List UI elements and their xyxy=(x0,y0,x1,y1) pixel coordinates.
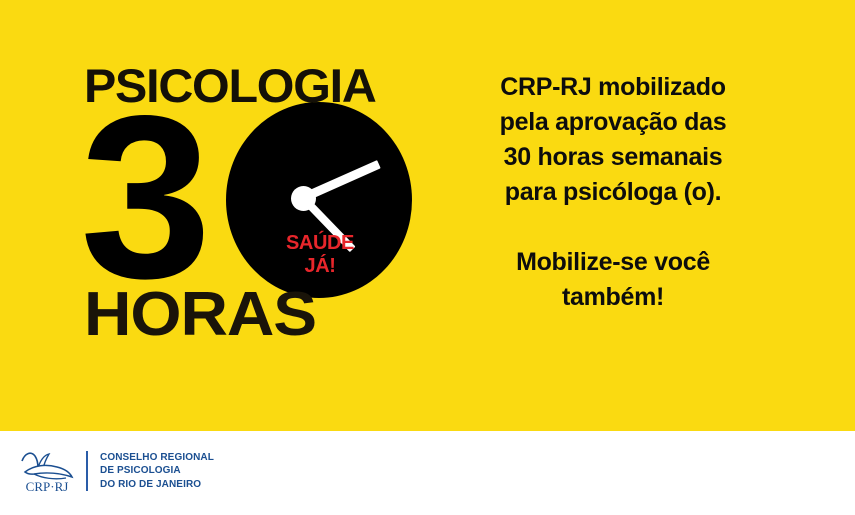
brand-name-line-1: CONSELHO REGIONAL xyxy=(100,451,214,465)
campaign-number-30: 3 SAÚDE JÁ! xyxy=(84,100,374,300)
message-line: para psicóloga (o). xyxy=(443,175,783,210)
message-line: 30 horas semanais xyxy=(443,140,783,175)
crp-bird-logo-icon: CRP·RJ xyxy=(16,447,78,495)
brand-name-line-2: DE PSICOLOGIA xyxy=(100,464,214,478)
saude-ja-badge: SAÚDE JÁ! xyxy=(262,232,378,278)
message-paragraph-2: Mobilize-se você também! xyxy=(443,245,783,315)
clock-icon: SAÚDE JÁ! xyxy=(226,102,412,298)
saude-ja-line2: JÁ! xyxy=(262,255,378,278)
message-paragraph-1: CRP-RJ mobilizado pela aprovação das 30 … xyxy=(443,70,783,210)
campaign-poster: PSICOLOGIA 3 SAÚDE JÁ! HORAS CRP-RJ mobi… xyxy=(0,0,855,515)
clock-center-hub xyxy=(291,186,316,211)
message-line: CRP-RJ mobilizado xyxy=(443,70,783,105)
crp-brand-name: CONSELHO REGIONAL DE PSICOLOGIA DO RIO D… xyxy=(100,451,214,492)
campaign-logo: PSICOLOGIA 3 SAÚDE JÁ! HORAS xyxy=(84,62,374,347)
hero-background: PSICOLOGIA 3 SAÚDE JÁ! HORAS CRP-RJ mobi… xyxy=(0,0,855,431)
brand-name-line-3: DO RIO DE JANEIRO xyxy=(100,478,214,492)
message-spacer xyxy=(443,210,783,245)
message-line: pela aprovação das xyxy=(443,105,783,140)
crp-brand-lockup[interactable]: CRP·RJ CONSELHO REGIONAL DE PSICOLOGIA D… xyxy=(16,447,214,495)
footer-bar: CRP·RJ CONSELHO REGIONAL DE PSICOLOGIA D… xyxy=(0,431,855,515)
brand-divider xyxy=(86,451,88,491)
message-line: Mobilize-se você xyxy=(443,245,783,280)
campaign-message: CRP-RJ mobilizado pela aprovação das 30 … xyxy=(443,70,783,315)
campaign-word-horas: HORAS xyxy=(84,284,316,346)
message-line: também! xyxy=(443,280,783,315)
svg-text:CRP·RJ: CRP·RJ xyxy=(26,479,69,494)
saude-ja-line1: SAÚDE xyxy=(262,232,378,255)
